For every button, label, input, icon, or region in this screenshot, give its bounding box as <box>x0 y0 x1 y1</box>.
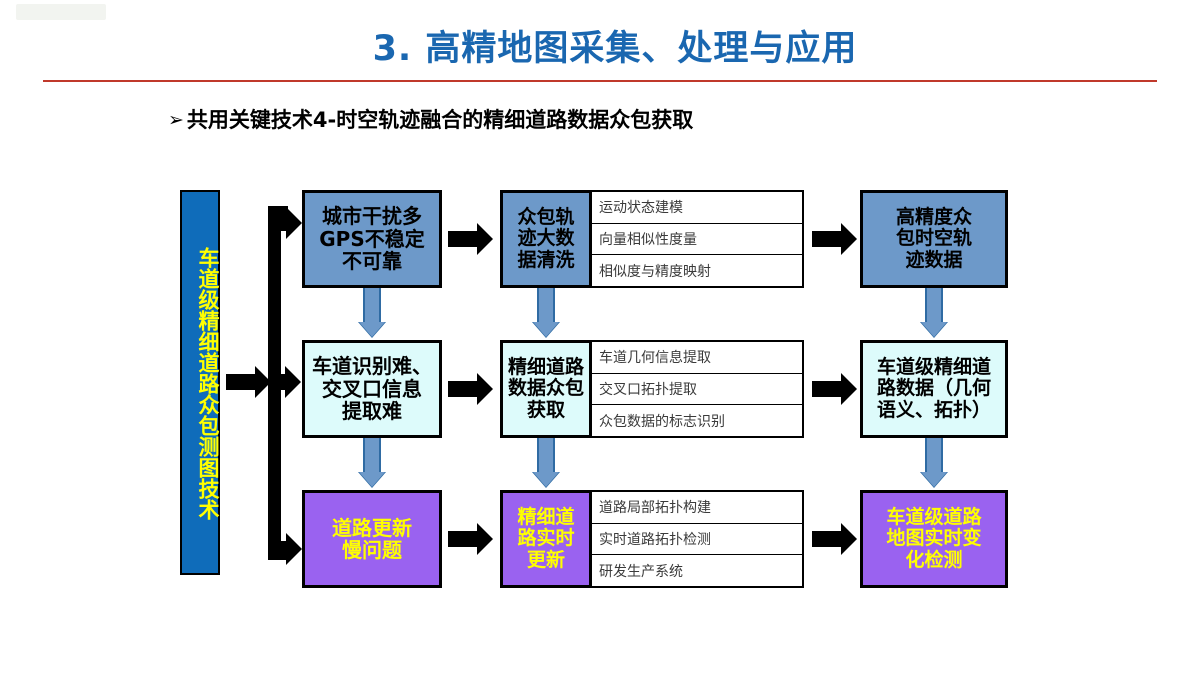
technology-box-row2-label: 精细道路 数据众包 获取 <box>506 357 586 421</box>
decorative-smudge <box>16 4 106 20</box>
result-box-row1-label: 高精度众 包时空轨 迹数据 <box>894 207 974 271</box>
bullet-arrow-icon: ➢ <box>168 109 184 131</box>
arrow-tech-to-result-row2 <box>812 381 842 397</box>
subitem-list-row2: 车道几何信息提取 交叉口拓扑提取 众包数据的标志识别 <box>592 340 804 438</box>
result-box-row3: 车道级道路 地图实时变 化检测 <box>860 490 1008 588</box>
title-divider <box>43 80 1157 82</box>
problem-box-row3-label: 道路更新 慢问题 <box>330 517 414 562</box>
subitem-list-row1: 运动状态建模 向量相似性度量 相似度与精度映射 <box>592 190 804 288</box>
technology-box-row2: 精细道路 数据众包 获取 <box>500 340 592 438</box>
list-item: 运动状态建模 <box>592 192 802 224</box>
subtitle: ➢共用关键技术4-时空轨迹融合的精细道路数据众包获取 <box>168 104 693 134</box>
technology-box-row3-label: 精细道 路实时 更新 <box>515 507 576 571</box>
list-item: 实时道路拓扑检测 <box>592 524 802 556</box>
slide-canvas: 3. 高精地图采集、处理与应用 ➢共用关键技术4-时空轨迹融合的精细道路数据众包… <box>0 0 1200 675</box>
technology-box-row3: 精细道 路实时 更新 <box>500 490 592 588</box>
branch-arrow-row1 <box>281 215 287 231</box>
problem-box-row3: 道路更新 慢问题 <box>302 490 442 588</box>
problem-box-row2-label: 车道识别难、 交叉口信息 提取难 <box>310 355 434 422</box>
arrow-tech-to-result-row1 <box>812 231 842 247</box>
arrow-problem-to-tech-row1 <box>448 231 478 247</box>
branch-arrow-row3 <box>281 541 287 557</box>
arrow-problem-to-tech-row2 <box>448 381 478 397</box>
problem-box-row2: 车道识别难、 交叉口信息 提取难 <box>302 340 442 438</box>
technology-box-row1: 众包轨 迹大数 据清洗 <box>500 190 592 288</box>
result-box-row2: 车道级精细道 路数据（几何 语义、拓扑） <box>860 340 1008 438</box>
title-area: 3. 高精地图采集、处理与应用 <box>0 20 1200 71</box>
result-box-row3-label: 车道级道路 地图实时变 化检测 <box>884 507 983 571</box>
technology-box-row1-label: 众包轨 迹大数 据清洗 <box>515 207 576 271</box>
branch-arrow-row2 <box>272 374 286 390</box>
arrow-stagebar-to-trunk <box>226 374 256 390</box>
page-title: 3. 高精地图采集、处理与应用 <box>373 20 858 71</box>
problem-box-row1-label: 城市干扰多 GPS不稳定 不可靠 <box>317 205 426 272</box>
subitem-list-row3: 道路局部拓扑构建 实时道路拓扑检测 研发生产系统 <box>592 490 804 588</box>
list-item: 交叉口拓扑提取 <box>592 374 802 406</box>
list-item: 相似度与精度映射 <box>592 255 802 286</box>
result-box-row2-label: 车道级精细道 路数据（几何 语义、拓扑） <box>875 357 993 421</box>
subtitle-text: 共用关键技术4-时空轨迹融合的精细道路数据众包获取 <box>187 108 693 132</box>
list-item: 众包数据的标志识别 <box>592 405 802 436</box>
arrow-problem-to-tech-row3 <box>448 531 478 547</box>
problem-box-row1: 城市干扰多 GPS不稳定 不可靠 <box>302 190 442 288</box>
list-item: 车道几何信息提取 <box>592 342 802 374</box>
list-item: 向量相似性度量 <box>592 224 802 256</box>
arrow-tech-to-result-row3 <box>812 531 842 547</box>
stage-bar <box>180 190 220 575</box>
list-item: 研发生产系统 <box>592 555 802 586</box>
list-item: 道路局部拓扑构建 <box>592 492 802 524</box>
result-box-row1: 高精度众 包时空轨 迹数据 <box>860 190 1008 288</box>
